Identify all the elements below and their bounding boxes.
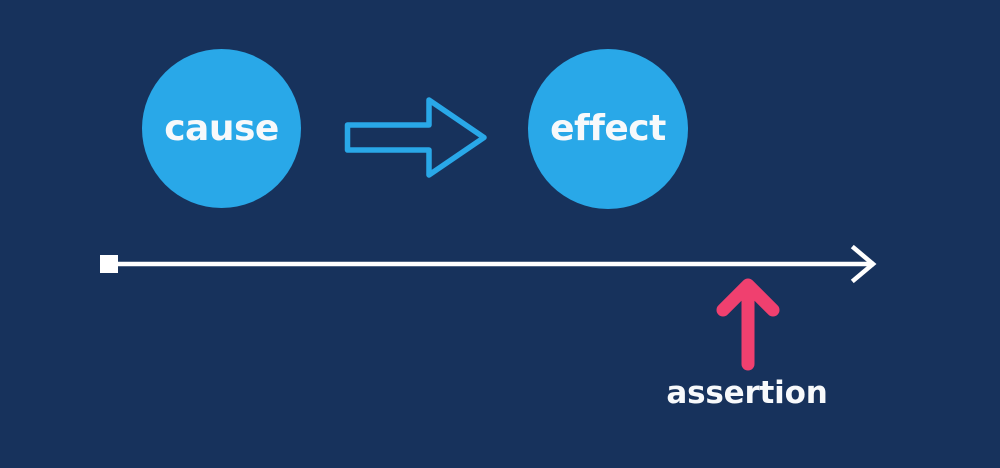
assertion-arrow[interactable] [714,272,784,372]
node-effect[interactable]: effect [528,49,688,209]
block-arrow-right-icon [340,90,492,185]
diagram-canvas: cause effect assertion [0,0,1000,468]
arrow-up-icon [714,272,784,372]
timeline-start-square [100,255,118,273]
node-cause[interactable]: cause [142,49,301,208]
node-cause-label: cause [164,111,279,147]
node-effect-label: effect [550,111,666,147]
causal-arrow [340,90,492,185]
assertion-label: assertion [597,378,897,409]
